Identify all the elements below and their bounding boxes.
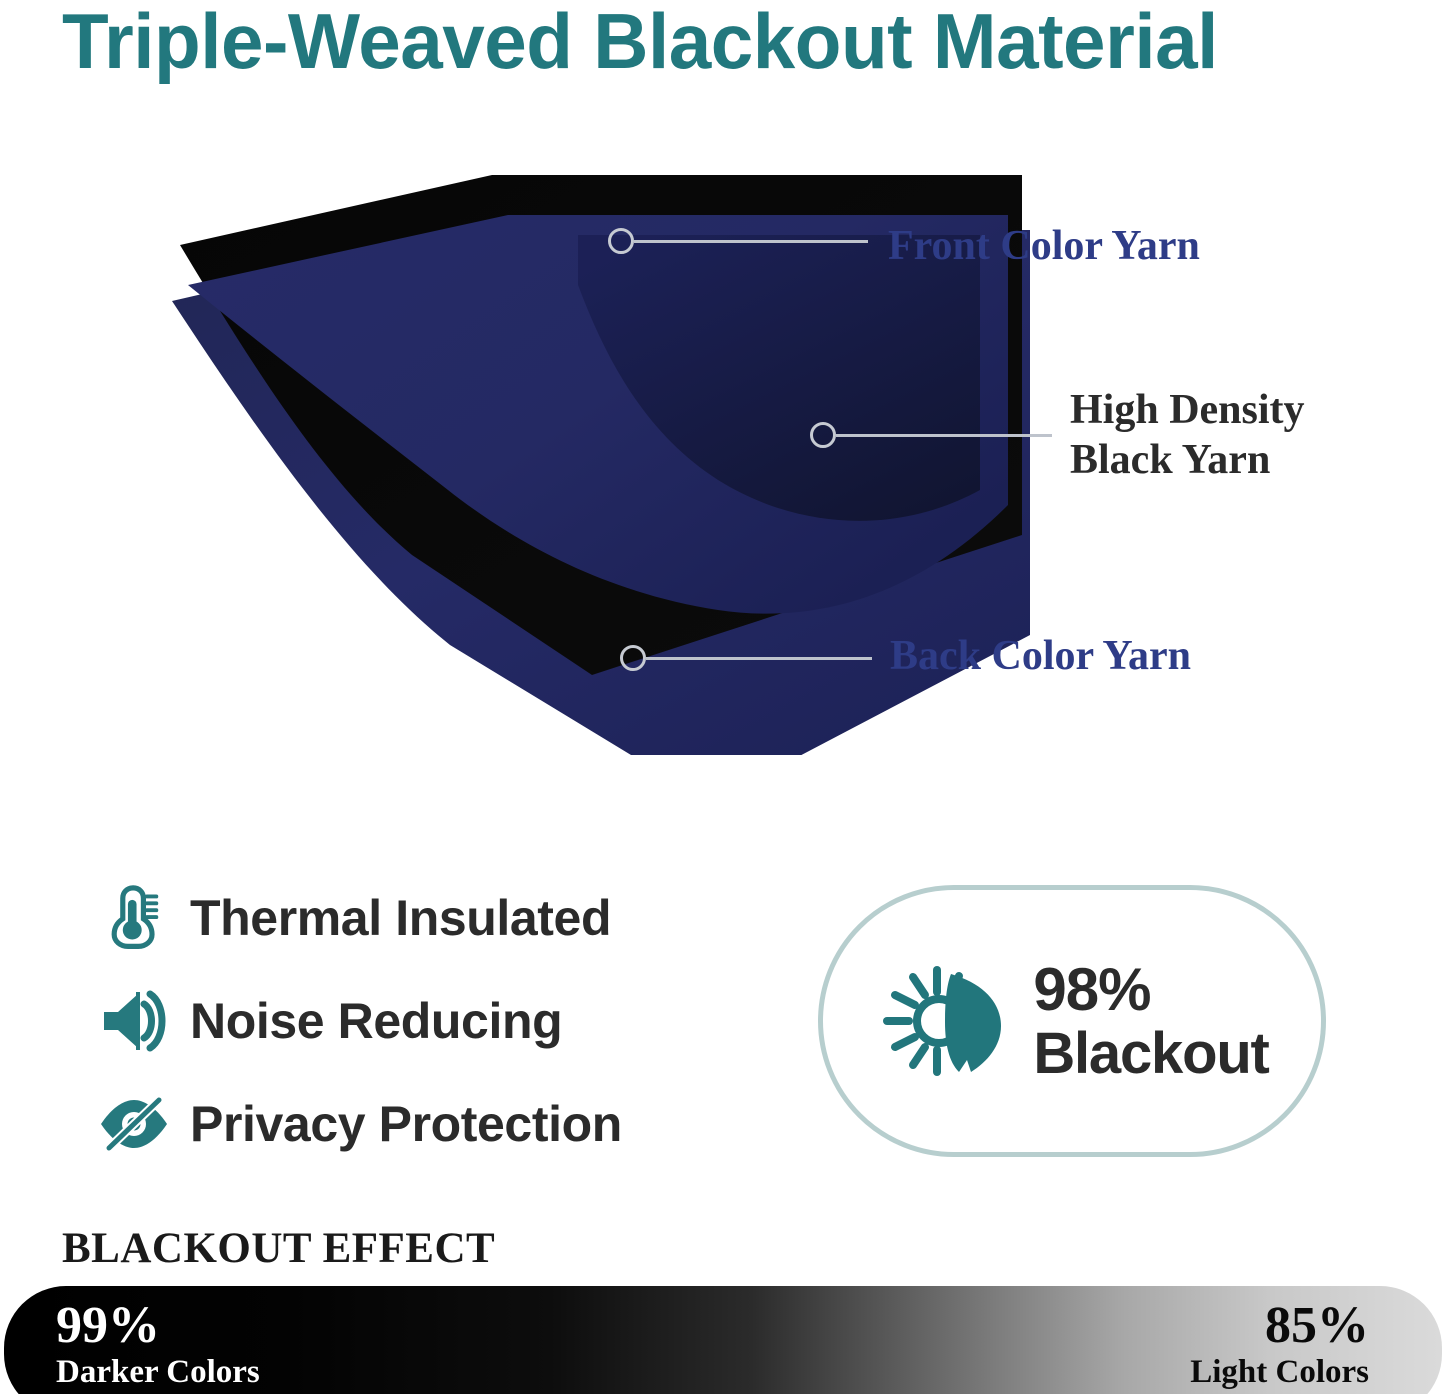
- blackout-badge: 98% Blackout: [818, 885, 1326, 1157]
- feature-list: Thermal Insulated Noise Reducing: [96, 874, 736, 1183]
- callout-dot-back: [620, 645, 646, 671]
- eye-slash-icon: [96, 1086, 172, 1162]
- callout-dot-black: [810, 422, 836, 448]
- blackout-effect-heading: BLACKOUT EFFECT: [62, 1224, 495, 1273]
- blackout-right-percent: 85%: [1190, 1300, 1369, 1352]
- feature-label-privacy: Privacy Protection: [190, 1095, 622, 1153]
- feature-item-privacy: Privacy Protection: [96, 1080, 736, 1168]
- feature-label-thermal: Thermal Insulated: [190, 889, 611, 947]
- blackout-left-percent: 99%: [56, 1300, 260, 1352]
- callout-dot-front: [608, 228, 634, 254]
- speaker-icon: [96, 983, 172, 1059]
- callout-label-black-line1: High Density: [1070, 385, 1305, 435]
- badge-text: 98% Blackout: [1033, 960, 1268, 1083]
- callout-label-black: High Density Black Yarn: [1070, 385, 1305, 485]
- callout-line-front: [634, 240, 868, 243]
- blackout-left-stat: 99% Darker Colors: [56, 1300, 260, 1389]
- feature-item-noise: Noise Reducing: [96, 977, 736, 1065]
- sun-blocked-icon: [875, 950, 1017, 1092]
- callout-label-back: Back Color Yarn: [890, 632, 1191, 680]
- badge-percent: 98%: [1033, 960, 1268, 1020]
- blackout-right-stat: 85% Light Colors: [1190, 1300, 1369, 1389]
- feature-item-thermal: Thermal Insulated: [96, 874, 736, 962]
- infographic-page: Triple-Weaved Blackout Material: [0, 0, 1445, 1394]
- blackout-right-sub: Light Colors: [1190, 1356, 1369, 1389]
- callout-label-front: Front Color Yarn: [888, 222, 1200, 270]
- page-title: Triple-Weaved Blackout Material: [62, 0, 1375, 84]
- thermometer-icon: [96, 880, 172, 956]
- feature-label-noise: Noise Reducing: [190, 992, 562, 1050]
- callout-line-black: [836, 434, 1052, 437]
- blackout-left-sub: Darker Colors: [56, 1356, 260, 1389]
- callout-line-back: [646, 657, 872, 660]
- badge-word: Blackout: [1033, 1025, 1268, 1083]
- callout-label-black-line2: Black Yarn: [1070, 435, 1305, 485]
